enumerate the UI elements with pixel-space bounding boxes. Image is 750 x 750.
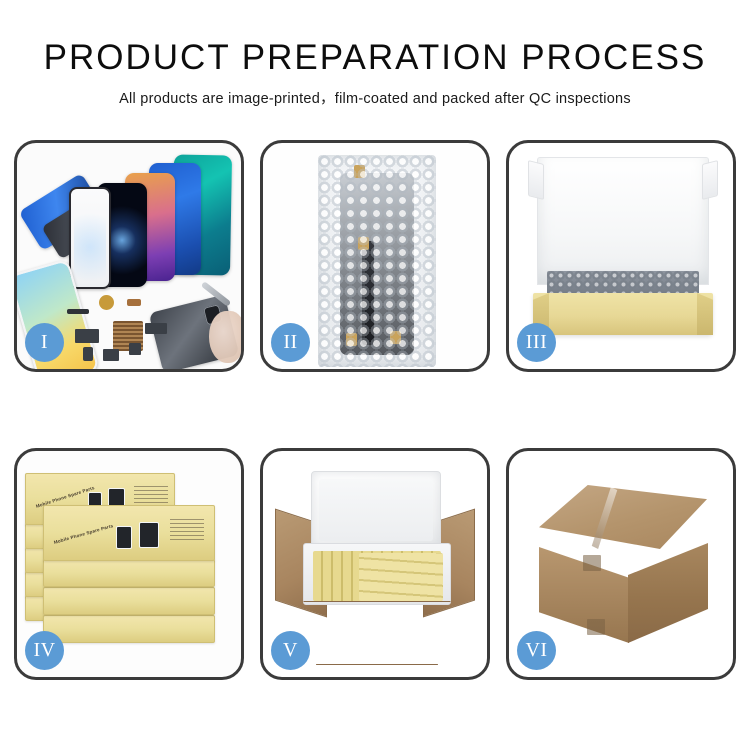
speaker-part-icon — [103, 349, 119, 361]
process-step-panel-1[interactable]: I — [14, 140, 244, 372]
box-label-text: Mobile Phone Spare Parts — [53, 523, 113, 545]
header: PRODUCT PREPARATION PROCESS All products… — [0, 0, 750, 108]
stacked-box-top-front: Mobile Phone Spare Parts — [43, 505, 215, 561]
wrapped-part-icon — [340, 173, 414, 355]
process-step-grid: I II I — [14, 140, 736, 680]
kraft-inner-box-base-icon — [533, 293, 713, 335]
tape-tab-icon — [390, 331, 401, 344]
gold-coil-part-icon — [99, 295, 114, 310]
stacked-box-item — [43, 615, 215, 643]
carton-tab-icon — [587, 619, 605, 635]
copper-flex-part-icon — [127, 299, 141, 306]
process-step-panel-2[interactable]: II — [260, 140, 490, 372]
process-step-panel-6[interactable]: VI — [506, 448, 736, 680]
foam-box-lid-icon — [311, 471, 441, 549]
tape-tab-icon — [358, 237, 369, 250]
small-module-part-icon — [83, 347, 93, 361]
page-subtitle: All products are image-printed，film-coat… — [0, 87, 750, 108]
carton-right-face-icon — [628, 543, 708, 643]
page-title: PRODUCT PREPARATION PROCESS — [0, 38, 750, 78]
wrapped-flex-cable-icon — [362, 241, 374, 345]
carton-top-face-icon — [539, 485, 707, 549]
stacked-box-item — [43, 559, 215, 587]
box-spec-lines — [170, 519, 204, 541]
tape-tab-icon — [354, 165, 365, 178]
camera-flex-part-icon — [145, 323, 167, 334]
process-step-panel-3[interactable]: III — [506, 140, 736, 372]
screen-protector-icon — [69, 187, 111, 289]
process-step-panel-4[interactable]: Mobile Phone Spare Parts Mobile Phone Sp… — [14, 448, 244, 680]
carton-tab-icon — [583, 555, 601, 571]
carton-front-panel-icon — [297, 601, 457, 665]
step-badge-5: V — [271, 631, 310, 670]
step-badge-1: I — [25, 323, 64, 362]
battery-connector-part-icon — [67, 309, 89, 314]
step-badge-6: VI — [517, 631, 556, 670]
flex-cable-part-icon — [75, 329, 99, 343]
bubble-wrap-bag-icon — [318, 155, 436, 367]
product-preparation-infographic: PRODUCT PREPARATION PROCESS All products… — [0, 0, 750, 750]
vibrator-part-icon — [129, 343, 141, 355]
box-window-icon — [139, 522, 159, 548]
yellow-boxes-row-icon — [359, 553, 443, 601]
step-badge-4: IV — [25, 631, 64, 670]
box-window-icon — [116, 526, 132, 549]
step-badge-3: III — [517, 323, 556, 362]
white-box-lid-icon — [537, 157, 709, 285]
stacked-box-item — [43, 587, 215, 615]
technician-hand-icon — [209, 311, 241, 363]
process-step-panel-5[interactable]: V — [260, 448, 490, 680]
step-badge-2: II — [271, 323, 310, 362]
tape-tab-icon — [346, 333, 357, 346]
